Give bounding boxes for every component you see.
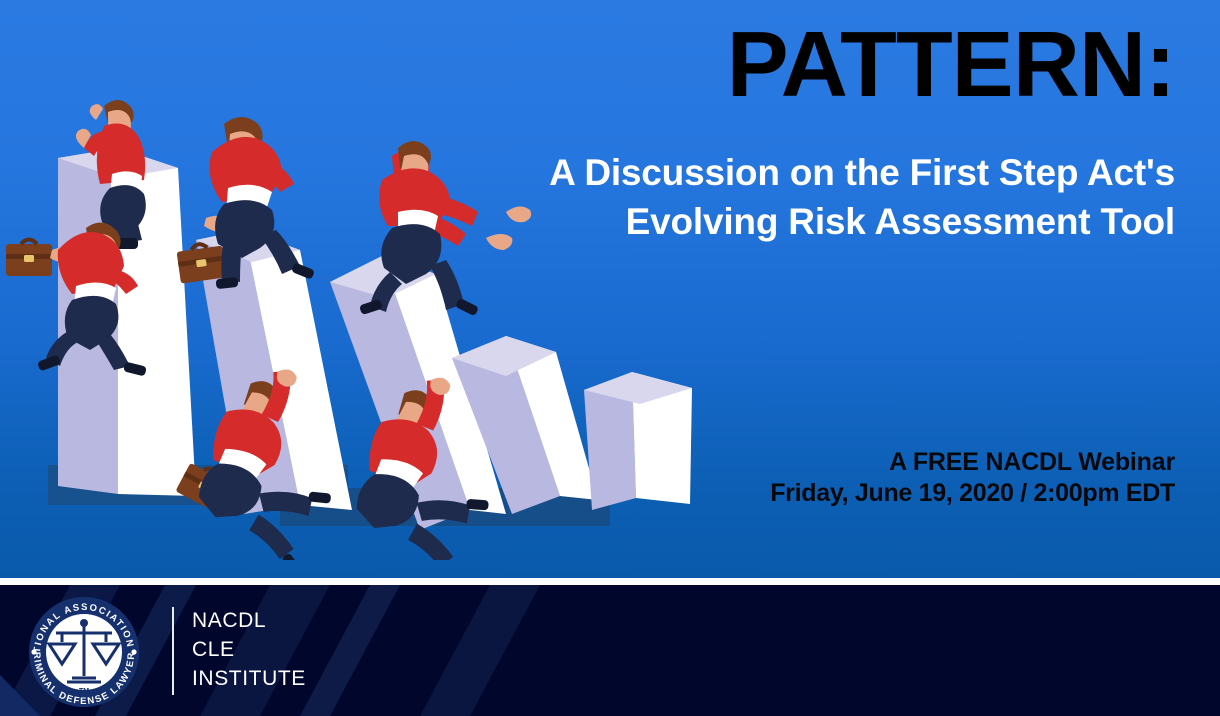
nacdl-seal-logo: NATIONAL ASSOCIATION OF CRIMINAL DEFENSE… bbox=[22, 592, 146, 710]
seal-trademark-text: TM bbox=[79, 688, 89, 695]
webinar-datetime: Friday, June 19, 2020 / 2:00pm EDT bbox=[475, 478, 1175, 509]
nacdl-cle-institute-wordmark: NACDL CLE INSTITUTE bbox=[192, 607, 306, 694]
poster-stage: PATTERN: A Discussion on the First Step … bbox=[0, 0, 1220, 578]
poster-title: PATTERN: bbox=[727, 18, 1175, 111]
subtitle-line-1: A Discussion on the First Step Act's bbox=[375, 148, 1175, 197]
footer-bar: NATIONAL ASSOCIATION OF CRIMINAL DEFENSE… bbox=[0, 585, 1220, 716]
brand-line-institute: INSTITUTE bbox=[192, 665, 306, 694]
subtitle-line-2: Evolving Risk Assessment Tool bbox=[375, 197, 1175, 246]
brand-line-nacdl: NACDL bbox=[192, 607, 306, 636]
brand-line-cle: CLE bbox=[192, 636, 306, 665]
webinar-details: A FREE NACDL Webinar Friday, June 19, 20… bbox=[475, 447, 1175, 509]
footer-divider-rule bbox=[0, 578, 1220, 585]
footer-vertical-divider bbox=[172, 607, 174, 695]
webinar-promo-poster: PATTERN: A Discussion on the First Step … bbox=[0, 0, 1220, 716]
webinar-label: A FREE NACDL Webinar bbox=[475, 447, 1175, 478]
poster-subtitle: A Discussion on the First Step Act's Evo… bbox=[375, 148, 1175, 246]
